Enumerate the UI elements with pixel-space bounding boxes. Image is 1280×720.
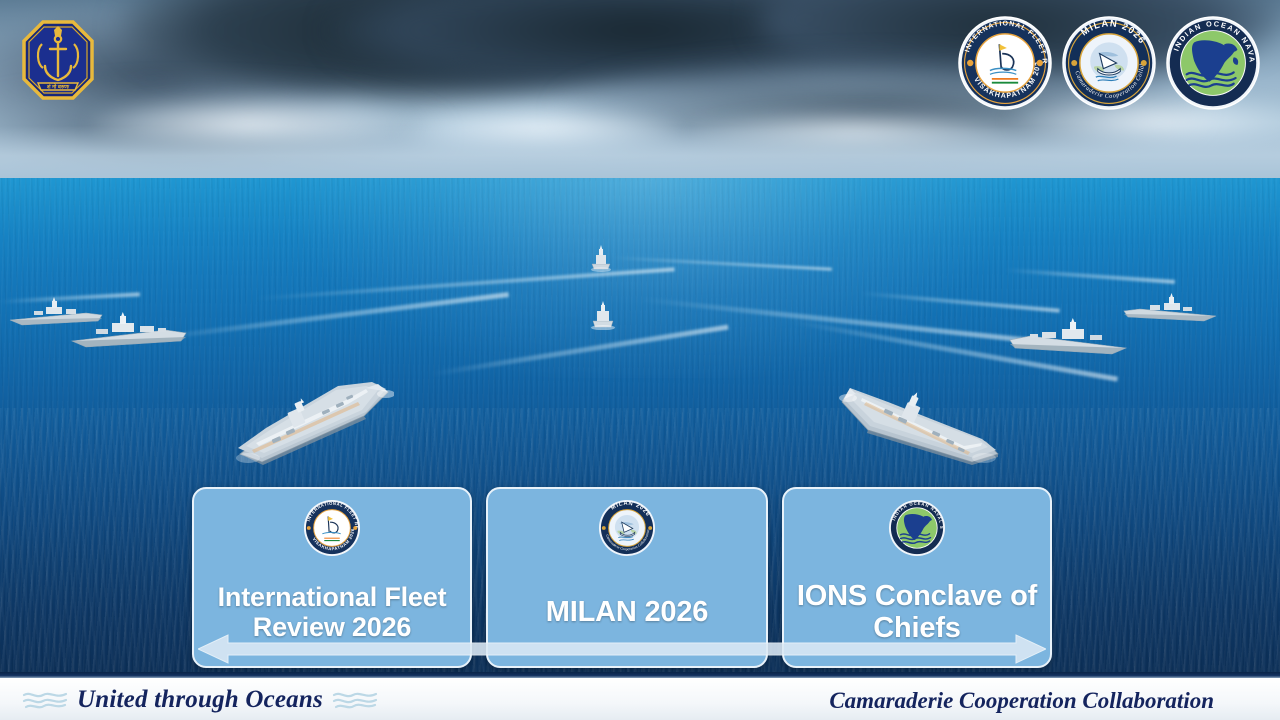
card-international-fleet-review[interactable]: INTERNATIONAL FLEET REVIEW VISAKHAPATNAM… — [192, 487, 472, 668]
ship-destroyer-right — [1006, 318, 1128, 360]
ship-center-far — [584, 244, 618, 272]
horizon-haze — [0, 126, 1280, 180]
ship-destroyer-left — [70, 312, 188, 352]
footer-left-motto: United through Oceans — [77, 686, 323, 714]
card-ions-conclave[interactable]: INDIAN OCEAN NAVAL SYMPOSIUM IONS Concla… — [782, 487, 1052, 668]
ifr-roundel-icon: INTERNATIONAL FLEET REVIEW VISAKHAPATNAM… — [303, 499, 361, 557]
card-milan[interactable]: MILAN 2026 Camaraderie Cooperation Colla… — [486, 487, 768, 668]
top-logo-group: INTERNATIONAL FLEET REVIEW VISAKHAPATNAM… — [958, 16, 1260, 110]
indian-navy-crest: शं नो वरुणः — [22, 20, 94, 100]
event-cards: INTERNATIONAL FLEET REVIEW VISAKHAPATNAM… — [192, 487, 1052, 668]
ions-roundel-icon: INDIAN OCEAN NAVAL SYMPOSIUM — [888, 499, 946, 557]
card-title: MILAN 2026 — [540, 559, 714, 666]
svg-text:शं नो वरुणः: शं नो वरुणः — [47, 83, 70, 90]
ship-carrier-left — [226, 358, 394, 470]
card-title: IONS Conclave of Chiefs — [784, 559, 1050, 666]
footer-right-group: Camaraderie Cooperation Collaboration — [829, 688, 1214, 714]
ions-logo-icon: INDIAN OCEAN NAVAL SYMPOSIUM — [1166, 16, 1260, 110]
footer-right-motto: Camaraderie Cooperation Collaboration — [829, 688, 1214, 713]
wave-lines-icon — [332, 690, 378, 710]
card-title: International Fleet Review 2026 — [194, 559, 470, 666]
footer-left-group: United through Oceans — [22, 686, 378, 714]
ifr-logo-icon: INTERNATIONAL FLEET REVIEW VISAKHAPATNAM… — [958, 16, 1052, 110]
sun-glint — [300, 178, 1000, 378]
banner-stage: शं नो वरुणः INTERNATIONAL FLEET REVIEW V… — [0, 0, 1280, 720]
ship-center-near — [584, 300, 622, 330]
milan-roundel-icon: MILAN 2026 Camaraderie Cooperation Colla… — [598, 499, 656, 557]
ship-carrier-right — [832, 358, 1008, 472]
ship-frigate-far-right — [1118, 292, 1218, 326]
milan-logo-icon: MILAN 2026 Camaraderie Cooperation Colla… — [1062, 16, 1156, 110]
wave-lines-icon — [22, 690, 68, 710]
